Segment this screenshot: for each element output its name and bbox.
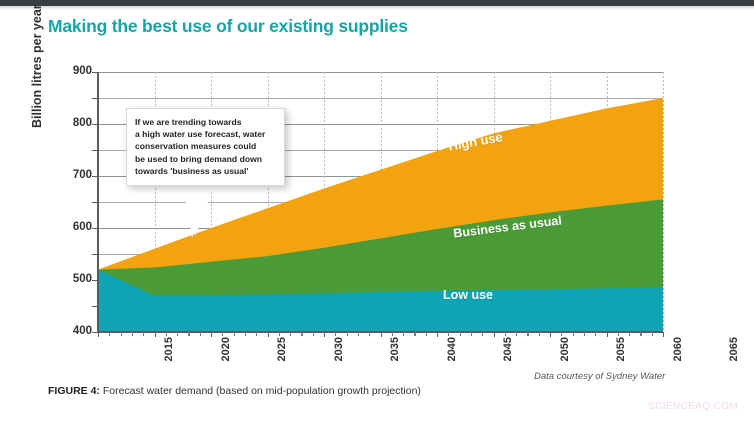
x-axis-tick-mark bbox=[301, 332, 302, 336]
x-axis-tick-label: 2050 bbox=[559, 337, 571, 397]
y-axis-tick-label: 800 bbox=[52, 117, 92, 129]
y-axis-tick-mark bbox=[92, 98, 98, 99]
x-axis-tick-mark bbox=[381, 332, 382, 337]
x-axis-tick-mark bbox=[471, 332, 472, 336]
y-axis-tick-label: 900 bbox=[52, 65, 92, 77]
x-axis-tick-mark bbox=[256, 332, 257, 336]
x-axis-tick-mark bbox=[268, 332, 269, 337]
x-axis-tick-mark bbox=[573, 332, 574, 336]
x-axis-tick-mark bbox=[494, 332, 495, 337]
x-axis-tick-mark bbox=[437, 332, 438, 337]
chart-container: Billion litres per year 4005006007008009… bbox=[0, 0, 754, 425]
x-axis-tick-mark bbox=[460, 332, 461, 336]
gridline-vertical bbox=[663, 72, 664, 332]
x-axis-tick-mark bbox=[132, 332, 133, 336]
x-axis-tick-label: 2065 bbox=[728, 337, 740, 397]
x-axis-tick-mark bbox=[324, 332, 325, 337]
y-axis-tick-label: 500 bbox=[52, 273, 92, 285]
x-axis-tick-mark bbox=[245, 332, 246, 336]
x-axis-tick-mark bbox=[335, 332, 336, 336]
x-axis-tick-mark bbox=[358, 332, 359, 336]
callout-box: If we are trending towards a high water … bbox=[126, 108, 285, 186]
x-axis-tick-label: 2060 bbox=[672, 337, 684, 397]
y-axis-tick-mark bbox=[92, 150, 98, 151]
x-axis-tick-mark bbox=[618, 332, 619, 336]
watermark: SCIENCEAQ.COM bbox=[648, 401, 738, 412]
x-axis-tick-mark bbox=[369, 332, 370, 336]
x-axis-tick-mark bbox=[629, 332, 630, 336]
x-axis-tick-mark bbox=[640, 332, 641, 336]
callout-text: If we are trending towards a high water … bbox=[135, 116, 276, 177]
x-axis-tick-mark bbox=[561, 332, 562, 336]
x-axis-tick-mark bbox=[652, 332, 653, 336]
x-axis-tick-mark bbox=[188, 332, 189, 336]
x-axis-tick-mark bbox=[663, 332, 664, 337]
x-axis-tick-label: 2040 bbox=[446, 337, 458, 397]
figure-caption-label: FIGURE 4: bbox=[48, 385, 100, 397]
y-axis-tick-mark bbox=[92, 306, 98, 307]
x-axis-tick-mark bbox=[234, 332, 235, 336]
x-axis-tick-mark bbox=[222, 332, 223, 336]
x-axis-tick-mark bbox=[347, 332, 348, 336]
x-axis-tick-mark bbox=[155, 332, 156, 337]
x-axis-tick-mark bbox=[403, 332, 404, 336]
x-axis-tick-mark bbox=[290, 332, 291, 336]
x-axis-tick-mark bbox=[516, 332, 517, 336]
figure-caption-text: Forecast water demand (based on mid-popu… bbox=[100, 385, 421, 397]
y-axis-tick-label: 700 bbox=[52, 169, 92, 181]
y-axis-tick-mark bbox=[92, 228, 98, 229]
x-axis-tick-mark bbox=[482, 332, 483, 336]
x-axis-tick-mark bbox=[595, 332, 596, 336]
figure-caption: FIGURE 4: Forecast water demand (based o… bbox=[48, 385, 421, 397]
x-axis-tick-mark bbox=[527, 332, 528, 336]
y-axis-tick-mark bbox=[92, 176, 98, 177]
x-axis-tick-mark bbox=[550, 332, 551, 337]
x-axis-tick-mark bbox=[313, 332, 314, 336]
x-axis-tick-label: 2045 bbox=[502, 337, 514, 397]
y-axis-tick-mark bbox=[92, 254, 98, 255]
x-axis-tick-label: 2055 bbox=[615, 337, 627, 397]
x-axis-tick-mark bbox=[426, 332, 427, 336]
y-axis-title: Billion litres per year bbox=[30, 0, 44, 128]
y-axis-tick-mark bbox=[92, 72, 98, 73]
x-axis-tick-mark bbox=[539, 332, 540, 336]
y-axis-tick-label: 400 bbox=[52, 325, 92, 337]
y-axis-tick-label: 600 bbox=[52, 221, 92, 233]
y-axis-tick-mark bbox=[92, 202, 98, 203]
x-axis-tick-mark bbox=[143, 332, 144, 336]
x-axis-tick-mark bbox=[505, 332, 506, 336]
x-axis-tick-mark bbox=[279, 332, 280, 336]
data-attribution: Data courtesy of Sydney Water bbox=[534, 371, 665, 382]
x-axis-tick-mark bbox=[166, 332, 167, 336]
x-axis-tick-mark bbox=[121, 332, 122, 336]
series-label: Low use bbox=[443, 288, 493, 302]
x-axis-tick-mark bbox=[177, 332, 178, 336]
x-axis-tick-mark bbox=[448, 332, 449, 336]
x-axis-tick-mark bbox=[211, 332, 212, 337]
x-axis-tick-mark bbox=[392, 332, 393, 336]
y-axis-tick-mark bbox=[92, 124, 98, 125]
x-axis-tick-mark bbox=[584, 332, 585, 336]
y-axis-tick-mark bbox=[92, 280, 98, 281]
x-axis-tick-mark bbox=[109, 332, 110, 336]
x-axis-tick-mark bbox=[607, 332, 608, 337]
x-axis-tick-mark bbox=[414, 332, 415, 336]
y-axis-tick-labels: 400500600700800900 bbox=[52, 0, 92, 425]
x-axis-tick-mark bbox=[98, 332, 99, 337]
x-axis-tick-mark bbox=[200, 332, 201, 336]
